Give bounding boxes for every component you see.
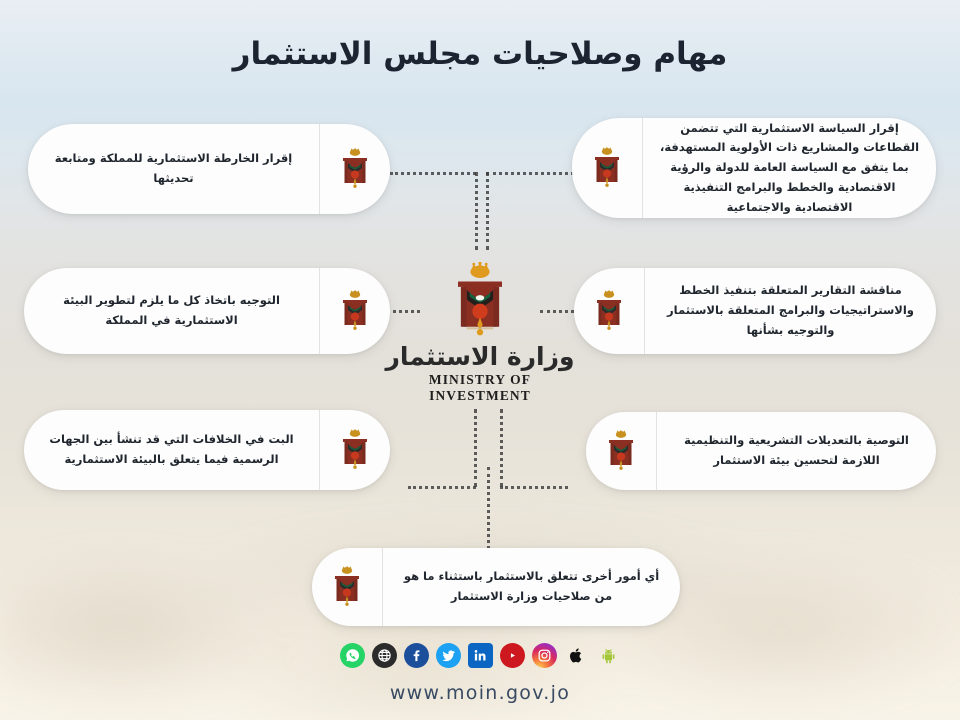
connector-low-left-vertical	[474, 409, 477, 487]
twitter-icon[interactable]	[436, 643, 461, 668]
connector-low-right-vertical	[500, 409, 503, 487]
connector-top-right-vertical	[486, 172, 489, 250]
card-top-right[interactable]: إقرار السياسة الاستثمارية التي تتضمن الق…	[572, 118, 936, 218]
linkedin-icon[interactable]	[468, 643, 493, 668]
website-url[interactable]: www.moin.gov.jo	[0, 682, 960, 704]
infographic-canvas: مهام وصلاحيات مجلس الاستثمار	[0, 0, 960, 720]
jordan-coat-of-arms-icon	[319, 124, 390, 214]
card-low-right[interactable]: التوصية بالتعديلات التشريعية والتنظيمية …	[586, 412, 936, 490]
card-text: إقرار السياسة الاستثمارية التي تتضمن الق…	[643, 118, 936, 218]
ministry-name-en: MINISTRY OF INVESTMENT	[380, 372, 580, 404]
card-text: البت في الخلافات التي قد تنشأ بين الجهات…	[24, 410, 319, 490]
card-mid-left[interactable]: التوجيه باتخاذ كل ما يلزم لتطوير البيئة …	[24, 268, 390, 354]
card-text: مناقشة التقارير المتعلقة بتنفيذ الخطط وا…	[645, 268, 936, 354]
jordan-coat-of-arms-icon	[319, 410, 390, 490]
connector-low-right-horizontal	[500, 486, 568, 489]
card-mid-right[interactable]: مناقشة التقارير المتعلقة بتنفيذ الخطط وا…	[574, 268, 936, 354]
page-title: مهام وصلاحيات مجلس الاستثمار	[0, 36, 960, 72]
jordan-coat-of-arms-icon	[312, 548, 383, 626]
card-bottom-center[interactable]: أي أمور أخرى تتعلق بالاستثمار باستثناء م…	[312, 548, 680, 626]
jordan-coat-of-arms-icon	[572, 118, 643, 218]
apple-icon[interactable]	[564, 643, 589, 668]
website-globe-icon[interactable]	[372, 643, 397, 668]
connector-low-left-horizontal	[408, 486, 476, 489]
ministry-name-ar: وزارة الاستثمار	[380, 342, 580, 371]
jordan-coat-of-arms	[443, 262, 517, 340]
card-text: إقرار الخارطة الاستثمارية للمملكة ومتابع…	[28, 124, 319, 214]
social-links	[0, 643, 960, 668]
card-top-left[interactable]: إقرار الخارطة الاستثمارية للمملكة ومتابع…	[28, 124, 390, 214]
facebook-icon[interactable]	[404, 643, 429, 668]
card-low-left[interactable]: البت في الخلافات التي قد تنشأ بين الجهات…	[24, 410, 390, 490]
instagram-icon[interactable]	[532, 643, 557, 668]
jordan-coat-of-arms-icon	[574, 268, 645, 354]
connector-top-left-vertical	[475, 172, 478, 250]
android-icon[interactable]	[596, 643, 621, 668]
ministry-logo: وزارة الاستثمار MINISTRY OF INVESTMENT	[380, 262, 580, 404]
whatsapp-icon[interactable]	[340, 643, 365, 668]
connector-top-right-horizontal	[486, 172, 574, 175]
card-text: التوجيه باتخاذ كل ما يلزم لتطوير البيئة …	[24, 268, 319, 354]
jordan-coat-of-arms-icon	[586, 412, 657, 490]
card-text: أي أمور أخرى تتعلق بالاستثمار باستثناء م…	[383, 548, 680, 626]
card-text: التوصية بالتعديلات التشريعية والتنظيمية …	[657, 412, 936, 490]
connector-top-left-horizontal	[390, 172, 476, 175]
connector-bottom-center-vertical	[487, 467, 490, 549]
youtube-icon[interactable]	[500, 643, 525, 668]
